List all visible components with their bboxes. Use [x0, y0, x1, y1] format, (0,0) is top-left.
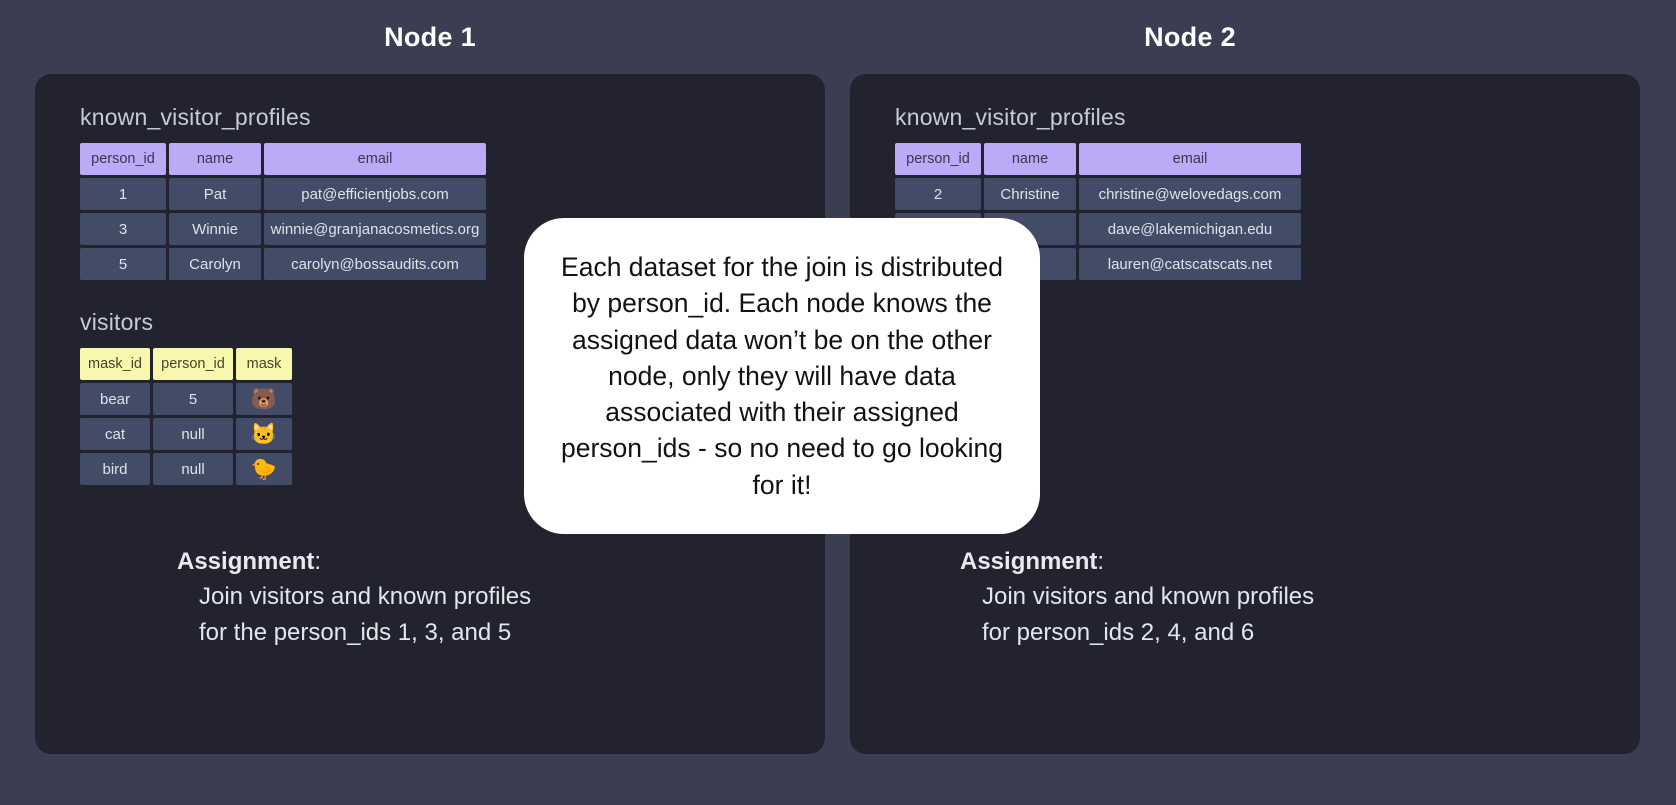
- cell-mask-id: bear: [80, 383, 150, 415]
- cell-person-id: null: [153, 453, 233, 485]
- explanation-callout: Each dataset for the join is distributed…: [524, 218, 1040, 534]
- column-header-person-id: person_id: [80, 143, 166, 175]
- table-row: bird null 🐤: [80, 453, 292, 485]
- dataset-title-known-visitor-profiles: known_visitor_profiles: [80, 104, 805, 131]
- cell-email: pat@efficientjobs.com: [264, 178, 486, 210]
- assignment-heading-label: Assignment: [960, 548, 1097, 575]
- assignment-heading: Assignment:: [960, 548, 1314, 576]
- cell-person-id: 5: [153, 383, 233, 415]
- assignment-line-1: Join visitors and known profiles: [199, 579, 531, 615]
- cell-name: Pat: [169, 178, 261, 210]
- dataset-title-known-visitor-profiles: known_visitor_profiles: [895, 104, 1620, 131]
- assignment-line-2: for person_ids 2, 4, and 6: [982, 615, 1314, 651]
- column-header-email: email: [264, 143, 486, 175]
- table-row: 2 Christine christine@welovedags.com: [895, 178, 1301, 210]
- column-header-person-id: person_id: [153, 348, 233, 380]
- visitors-table-node-1: mask_id person_id mask bear 5 🐻 cat null: [77, 345, 295, 488]
- node-2-assignment: Assignment: Join visitors and known prof…: [960, 548, 1314, 650]
- column-header-name: name: [169, 143, 261, 175]
- node-2-title: Node 2: [990, 22, 1390, 53]
- slide-canvas: Node 1 Node 2 known_visitor_profiles per…: [0, 0, 1676, 805]
- table-header-row: mask_id person_id mask: [80, 348, 292, 380]
- cell-person-id: 3: [80, 213, 166, 245]
- table-header-row: person_id name email: [895, 143, 1301, 175]
- assignment-line-1: Join visitors and known profiles: [982, 579, 1314, 615]
- column-header-mask-id: mask_id: [80, 348, 150, 380]
- assignment-heading-colon: :: [1097, 548, 1104, 575]
- cell-name: Winnie: [169, 213, 261, 245]
- node-1-assignment: Assignment: Join visitors and known prof…: [177, 548, 531, 650]
- callout-text: Each dataset for the join is distributed…: [558, 249, 1006, 503]
- cell-name: Carolyn: [169, 248, 261, 280]
- assignment-heading-label: Assignment: [177, 548, 314, 575]
- cell-email: lauren@catscatscats.net: [1079, 248, 1301, 280]
- bear-mask-icon: 🐻: [236, 383, 292, 415]
- table-row: cat null 🐱: [80, 418, 292, 450]
- table-row: 5 Carolyn carolyn@bossaudits.com: [80, 248, 486, 280]
- assignment-line-2: for the person_ids 1, 3, and 5: [199, 615, 531, 651]
- column-header-person-id: person_id: [895, 143, 981, 175]
- known-visitor-profiles-table-node-1: person_id name email 1 Pat pat@efficient…: [77, 140, 489, 283]
- cell-email: carolyn@bossaudits.com: [264, 248, 486, 280]
- column-header-name: name: [984, 143, 1076, 175]
- table-header-row: person_id name email: [80, 143, 486, 175]
- cat-mask-icon: 🐱: [236, 418, 292, 450]
- cell-person-id: 5: [80, 248, 166, 280]
- table-row: 3 Winnie winnie@granjanacosmetics.org: [80, 213, 486, 245]
- assignment-heading: Assignment:: [177, 548, 531, 576]
- bird-mask-icon: 🐤: [236, 453, 292, 485]
- table-row: bear 5 🐻: [80, 383, 292, 415]
- column-header-mask: mask: [236, 348, 292, 380]
- cell-person-id: 1: [80, 178, 166, 210]
- cell-mask-id: cat: [80, 418, 150, 450]
- cell-email: dave@lakemichigan.edu: [1079, 213, 1301, 245]
- column-header-email: email: [1079, 143, 1301, 175]
- cell-email: winnie@granjanacosmetics.org: [264, 213, 486, 245]
- assignment-heading-colon: :: [314, 548, 321, 575]
- cell-mask-id: bird: [80, 453, 150, 485]
- cell-person-id: null: [153, 418, 233, 450]
- cell-person-id: 2: [895, 178, 981, 210]
- node-1-title: Node 1: [230, 22, 630, 53]
- table-row: 1 Pat pat@efficientjobs.com: [80, 178, 486, 210]
- cell-name: Christine: [984, 178, 1076, 210]
- cell-email: christine@welovedags.com: [1079, 178, 1301, 210]
